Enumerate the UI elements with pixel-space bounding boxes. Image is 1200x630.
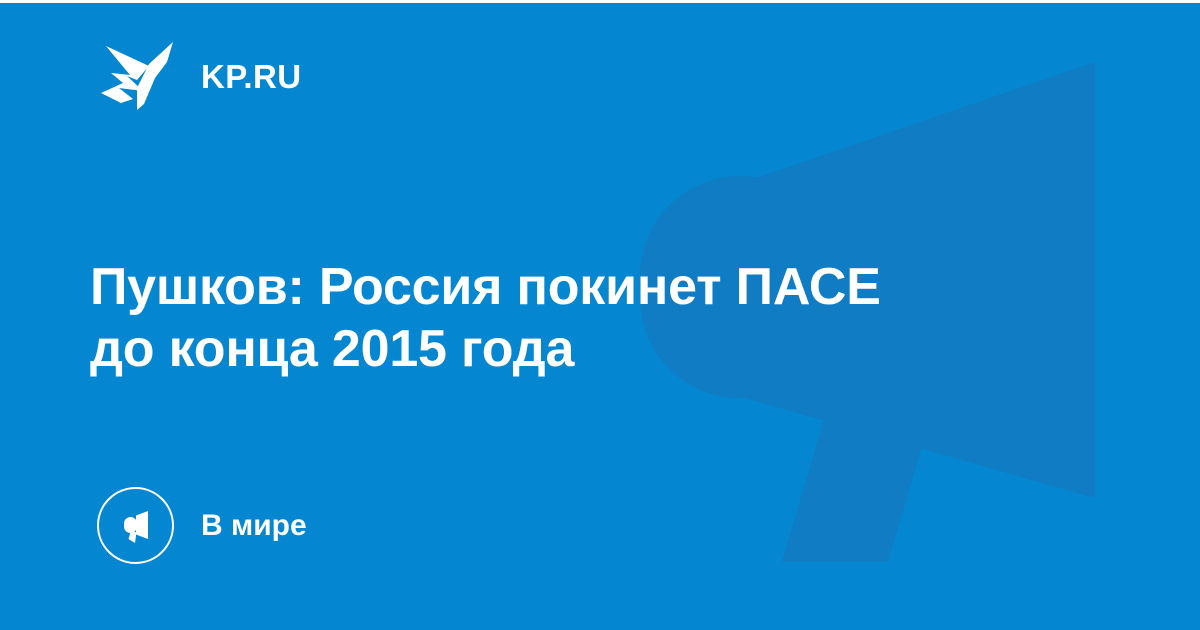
rubric-icon-circle bbox=[97, 487, 174, 564]
rubric-label: В мире bbox=[201, 511, 307, 541]
headline: Пушков: Россия покинет ПАСЕ до конца 201… bbox=[90, 257, 990, 381]
brand-wordmark: KP.RU bbox=[201, 60, 301, 93]
rubric-badge[interactable]: В мире bbox=[97, 487, 307, 564]
megaphone-icon bbox=[116, 506, 156, 546]
swallow-bird-icon bbox=[97, 36, 179, 116]
brand-lockup[interactable]: KP.RU bbox=[97, 36, 301, 116]
share-card: KP.RU Пушков: Россия покинет ПАСЕ до кон… bbox=[0, 0, 1200, 630]
